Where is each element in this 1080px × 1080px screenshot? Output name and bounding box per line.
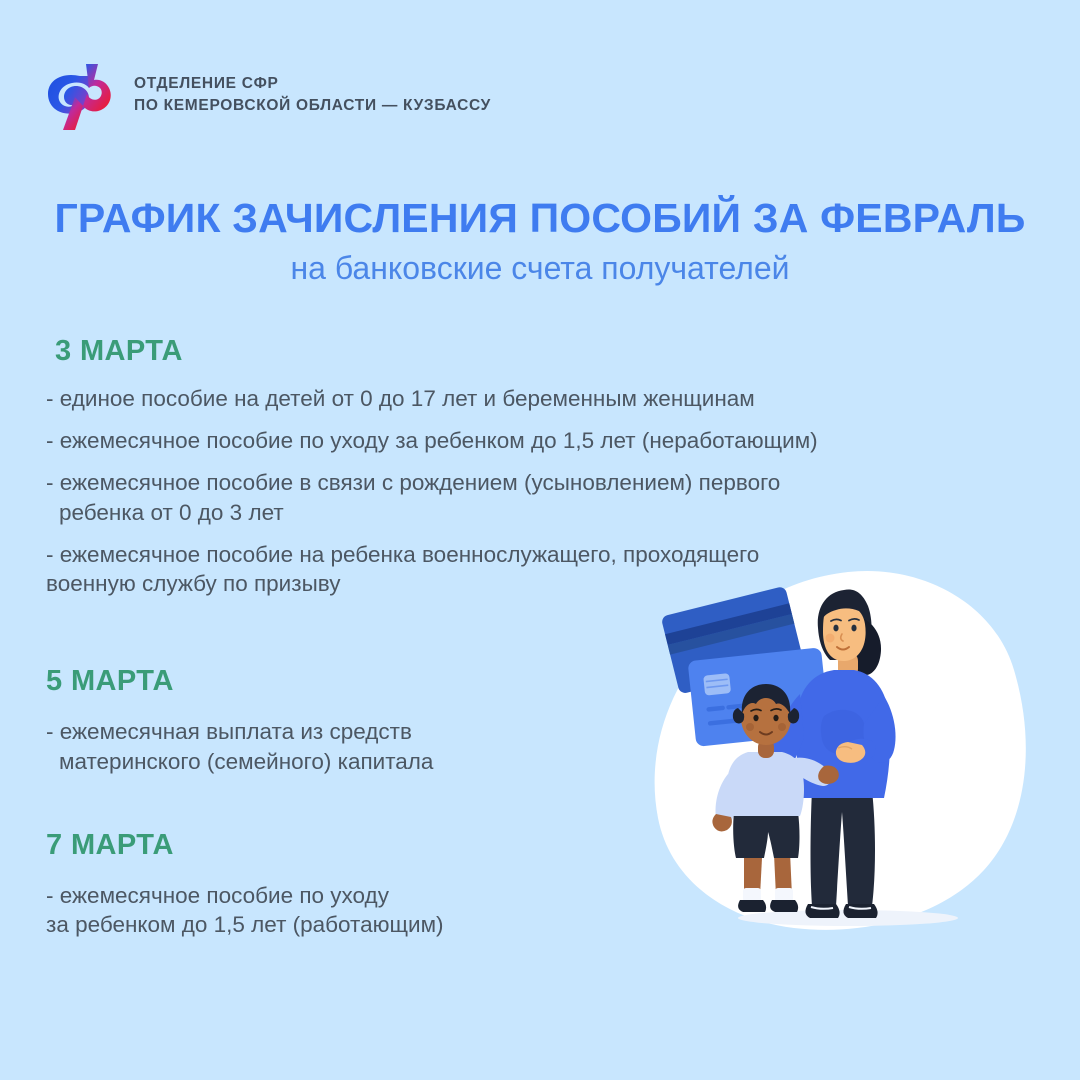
organization-name: ОТДЕЛЕНИЕ СФР ПО КЕМЕРОВСКОЙ ОБЛАСТИ — К… xyxy=(134,73,491,115)
page-subtitle: на банковские счета получателей xyxy=(0,251,1080,287)
list-item: - ежемесячное пособие по уходу за ребенк… xyxy=(46,426,1036,455)
date-heading: 3 МАРТА xyxy=(46,336,1036,368)
org-line-2: ПО КЕМЕРОВСКОЙ ОБЛАСТИ — КУЗБАССУ xyxy=(134,97,491,115)
page-title: ГРАФИК ЗАЧИСЛЕНИЯ ПОСОБИЙ ЗА ФЕВРАЛЬ xyxy=(0,196,1080,240)
woman-shoe-left xyxy=(805,904,839,918)
woman-shoe-right xyxy=(843,904,877,918)
title-block: ГРАФИК ЗАЧИСЛЕНИЯ ПОСОБИЙ ЗА ФЕВРАЛЬ на … xyxy=(0,196,1080,287)
boy-shoe-right xyxy=(770,900,798,912)
boy-shirt xyxy=(727,752,804,816)
schedule-group-3-march: 3 МАРТА - единое пособие на детей от 0 д… xyxy=(46,336,1036,598)
list-item: - единое пособие на детей от 0 до 17 лет… xyxy=(46,384,1036,413)
sfr-logo-icon xyxy=(42,58,120,130)
organization-header: ОТДЕЛЕНИЕ СФР ПО КЕМЕРОВСКОЙ ОБЛАСТИ — К… xyxy=(42,58,491,130)
list-item: - ежемесячное пособие в связи с рождение… xyxy=(46,468,1036,527)
org-line-1: ОТДЕЛЕНИЕ СФР xyxy=(134,75,491,93)
family-illustration xyxy=(648,566,1038,946)
boy-shoe-left xyxy=(738,900,766,912)
